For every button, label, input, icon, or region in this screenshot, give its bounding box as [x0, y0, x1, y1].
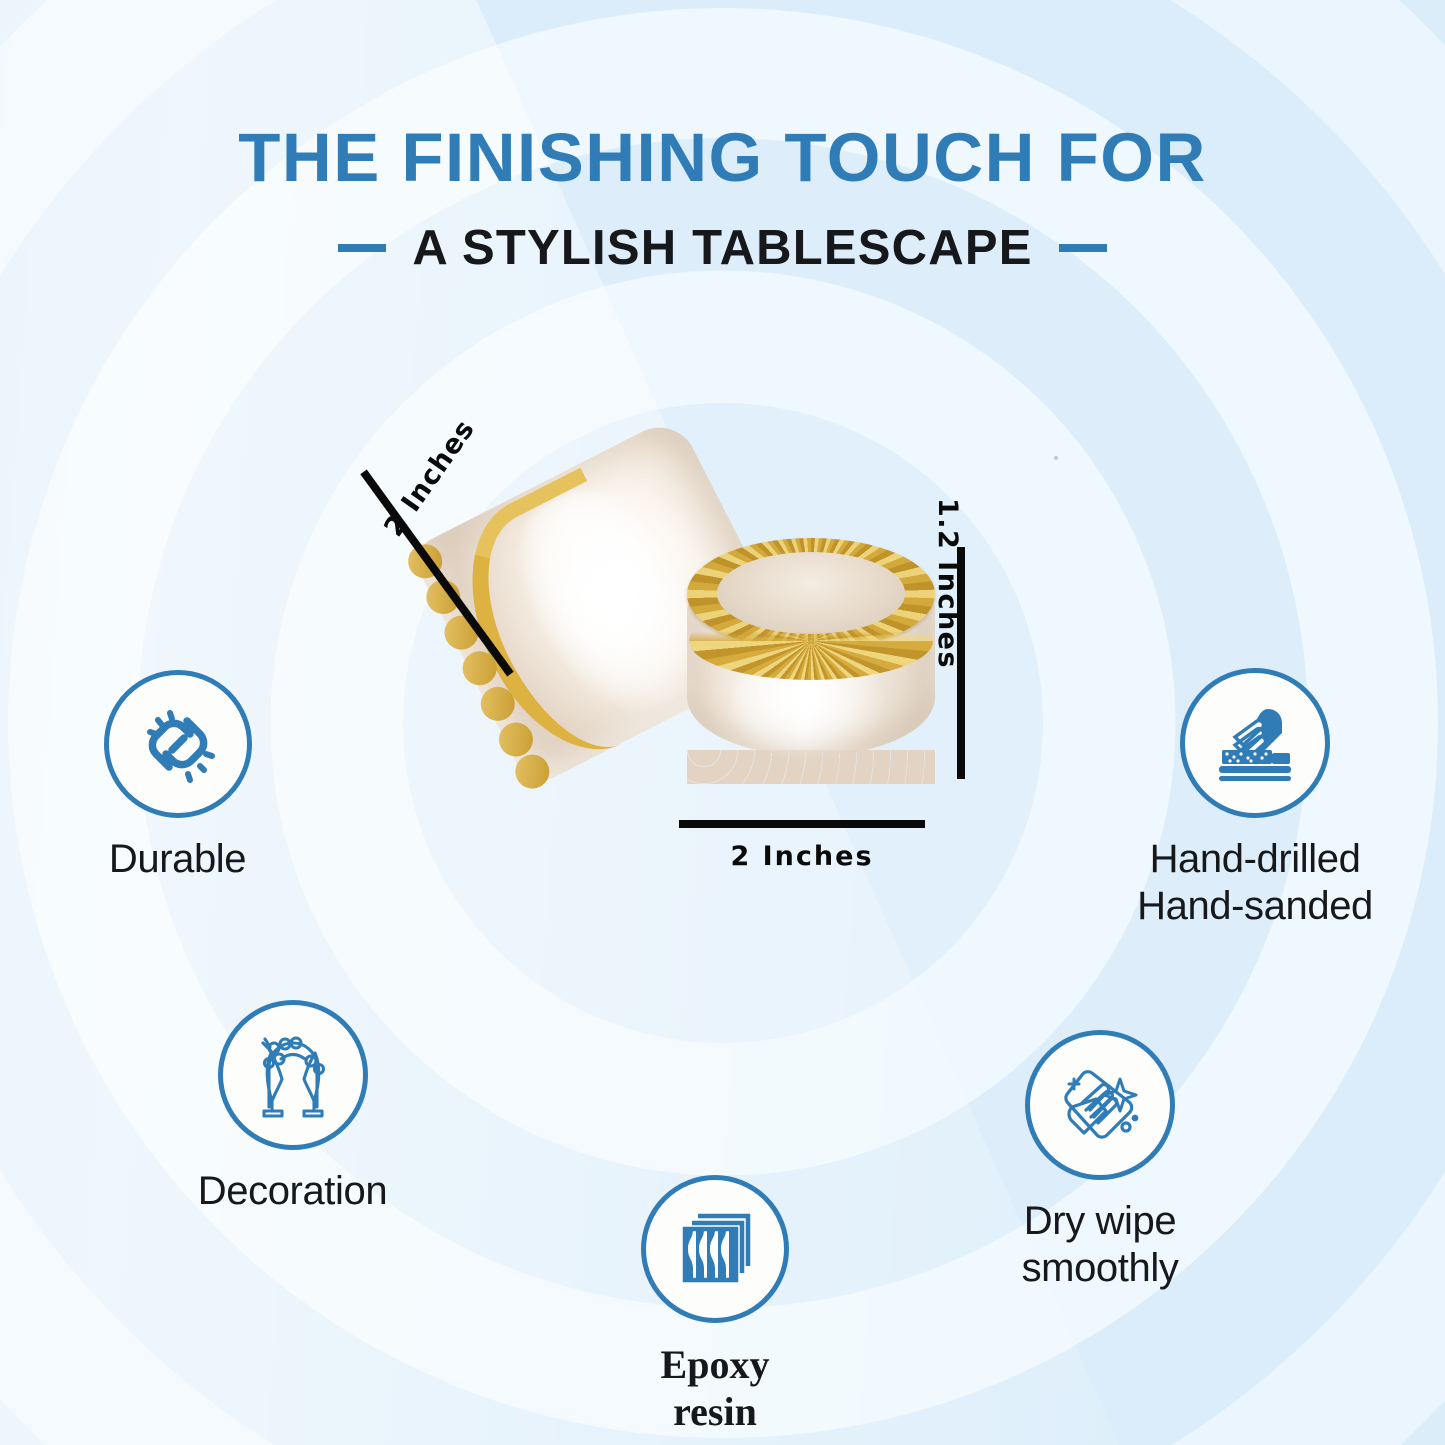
dimension-label-horizontal: 2 Inches — [679, 841, 925, 872]
infographic-canvas: THE FINISHING TOUCH FOR A STYLISH TABLES… — [0, 0, 1445, 1445]
durable-label: Durable — [109, 836, 246, 883]
napkin-ring-upright — [687, 538, 935, 770]
dash-right-icon — [1059, 244, 1107, 252]
headline-block: THE FINISHING TOUCH FOR A STYLISH TABLES… — [0, 122, 1445, 276]
hand-cloth-sparkle-icon — [1050, 1055, 1150, 1155]
ring-right-front-gold-teeth — [689, 602, 933, 680]
dimension-label-vertical: 1.2 Inches — [932, 498, 963, 669]
feature-hand-drilled: Hand-drilled Hand-sanded — [1110, 668, 1400, 930]
resin-layers-icon — [668, 1202, 762, 1296]
feature-durable: Durable — [60, 670, 295, 883]
decoration-badge — [218, 1000, 368, 1150]
subheadline-row: A STYLISH TABLESCAPE — [0, 220, 1445, 276]
epoxy-resin-label: Epoxy resin — [661, 1341, 770, 1435]
dash-left-icon — [338, 244, 386, 252]
hand-sanding-icon — [1205, 693, 1305, 793]
background-speck — [1054, 456, 1058, 460]
epoxy-badge — [641, 1175, 789, 1323]
dry-wipe-label: Dry wipe smoothly — [1022, 1198, 1179, 1292]
feature-decoration: Decoration — [155, 1000, 430, 1215]
decoration-label: Decoration — [198, 1168, 387, 1215]
chain-link-sparkle-icon — [130, 696, 226, 792]
product-image: 2 Inches 1.2 Inches 2 Inches — [415, 440, 1015, 880]
page-subtitle: A STYLISH TABLESCAPE — [412, 220, 1032, 276]
wedding-arch-icon — [241, 1023, 345, 1127]
hand-drilled-badge — [1180, 668, 1330, 818]
page-title: THE FINISHING TOUCH FOR — [0, 122, 1445, 194]
dry-wipe-badge — [1025, 1030, 1175, 1180]
feature-epoxy-resin: Epoxy resin — [590, 1175, 840, 1435]
durable-badge — [104, 670, 252, 818]
dimension-line-horizontal — [679, 820, 925, 828]
hand-drilled-label: Hand-drilled Hand-sanded — [1137, 836, 1373, 930]
feature-dry-wipe: Dry wipe smoothly — [960, 1030, 1240, 1292]
